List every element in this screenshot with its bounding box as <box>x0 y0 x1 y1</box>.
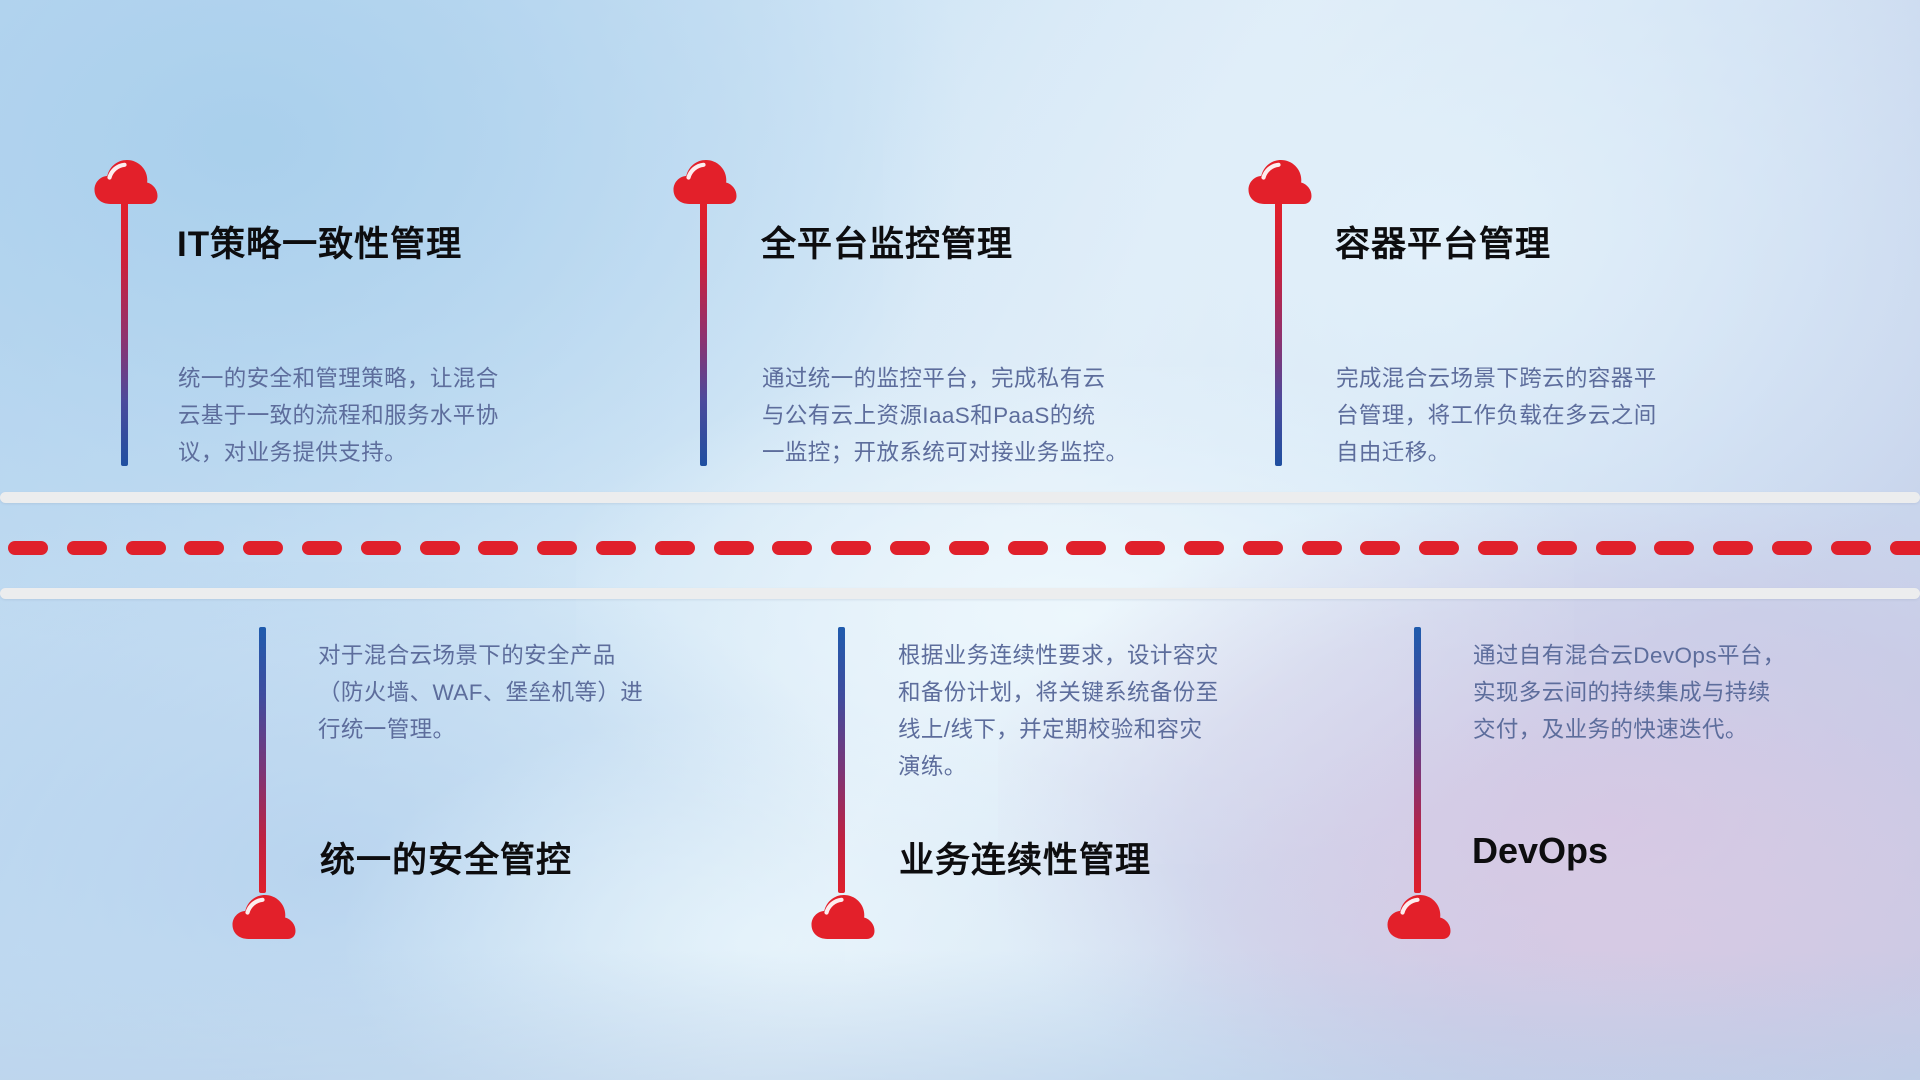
road-dash-segment <box>1478 541 1518 555</box>
road-dash-segment <box>596 541 636 555</box>
cloud-icon <box>1386 893 1452 941</box>
road-dash-segment <box>8 541 48 555</box>
road-dash-segment <box>1537 541 1577 555</box>
road-edge-line-bottom <box>0 588 1920 599</box>
road-dash-segment <box>1713 541 1753 555</box>
road-dash-segment <box>1831 541 1871 555</box>
top-column-3-body: 完成混合云场景下跨云的容器平 台管理，将工作负载在多云之间 自由迁移。 <box>1336 360 1766 471</box>
road-dash-segment <box>184 541 224 555</box>
road-dash-segment <box>890 541 930 555</box>
top-column-1-body: 统一的安全和管理策略，让混合 云基于一致的流程和服务水平协 议，对业务提供支持。 <box>178 360 608 471</box>
road-dash-segment <box>831 541 871 555</box>
column-stem <box>259 627 266 893</box>
road-dash-segment <box>1890 541 1920 555</box>
column-stem <box>700 200 707 466</box>
bottom-column-1-title: 统一的安全管控 <box>320 832 572 883</box>
road-dash-segment <box>949 541 989 555</box>
top-column-2-title: 全平台监控管理 <box>761 216 1013 267</box>
top-column-2-body: 通过统一的监控平台，完成私有云 与公有云上资源IaaS和PaaS的统 一监控；开… <box>762 360 1202 471</box>
road-dash-segment <box>243 541 283 555</box>
road-dash-segment <box>655 541 695 555</box>
road-dash-segment <box>1596 541 1636 555</box>
infographic-canvas: IT策略一致性管理 统一的安全和管理策略，让混合 云基于一致的流程和服务水平协 … <box>0 0 1920 1080</box>
road-dash-segment <box>1772 541 1812 555</box>
top-column-1-title: IT策略一致性管理 <box>177 216 462 267</box>
column-stem <box>121 200 128 466</box>
road-dash-segment <box>537 541 577 555</box>
road-dash-segment <box>1243 541 1283 555</box>
cloud-icon <box>93 158 159 206</box>
bottom-column-3-body: 通过自有混合云DevOps平台， 实现多云间的持续集成与持续 交付，及业务的快速… <box>1473 637 1893 748</box>
road-dash-segment <box>1184 541 1224 555</box>
cloud-icon <box>810 893 876 941</box>
road-dash-segment <box>1008 541 1048 555</box>
cloud-icon <box>231 893 297 941</box>
road-dash-segment <box>1360 541 1400 555</box>
column-stem <box>1414 627 1421 893</box>
column-stem <box>1275 200 1282 466</box>
cloud-icon <box>672 158 738 206</box>
road-dash-segment <box>67 541 107 555</box>
road-dash-segment <box>1066 541 1106 555</box>
road-dash-segment <box>420 541 460 555</box>
background-glow-footer <box>0 950 1920 1080</box>
road-dash-segment <box>1302 541 1342 555</box>
road-dash-segment <box>714 541 754 555</box>
road-edge-line-top <box>0 492 1920 503</box>
cloud-icon <box>1247 158 1313 206</box>
road-dash-segment <box>1419 541 1459 555</box>
top-column-3-title: 容器平台管理 <box>1335 216 1551 267</box>
road-dash-segment <box>772 541 812 555</box>
bottom-column-1-body: 对于混合云场景下的安全产品 （防火墙、WAF、堡垒机等）进 行统一管理。 <box>318 637 748 748</box>
road-dash-segment <box>361 541 401 555</box>
bottom-column-2-body: 根据业务连续性要求，设计容灾 和备份计划，将关键系统备份至 线上/线下，并定期校… <box>898 637 1338 785</box>
road-center-dashes <box>0 541 1920 555</box>
bottom-column-2-title: 业务连续性管理 <box>899 832 1151 883</box>
road-dash-segment <box>302 541 342 555</box>
road-dash-segment <box>1654 541 1694 555</box>
bottom-column-3-title: DevOps <box>1472 830 1608 872</box>
road-dash-segment <box>1125 541 1165 555</box>
road-dash-segment <box>478 541 518 555</box>
road-dash-segment <box>126 541 166 555</box>
column-stem <box>838 627 845 893</box>
